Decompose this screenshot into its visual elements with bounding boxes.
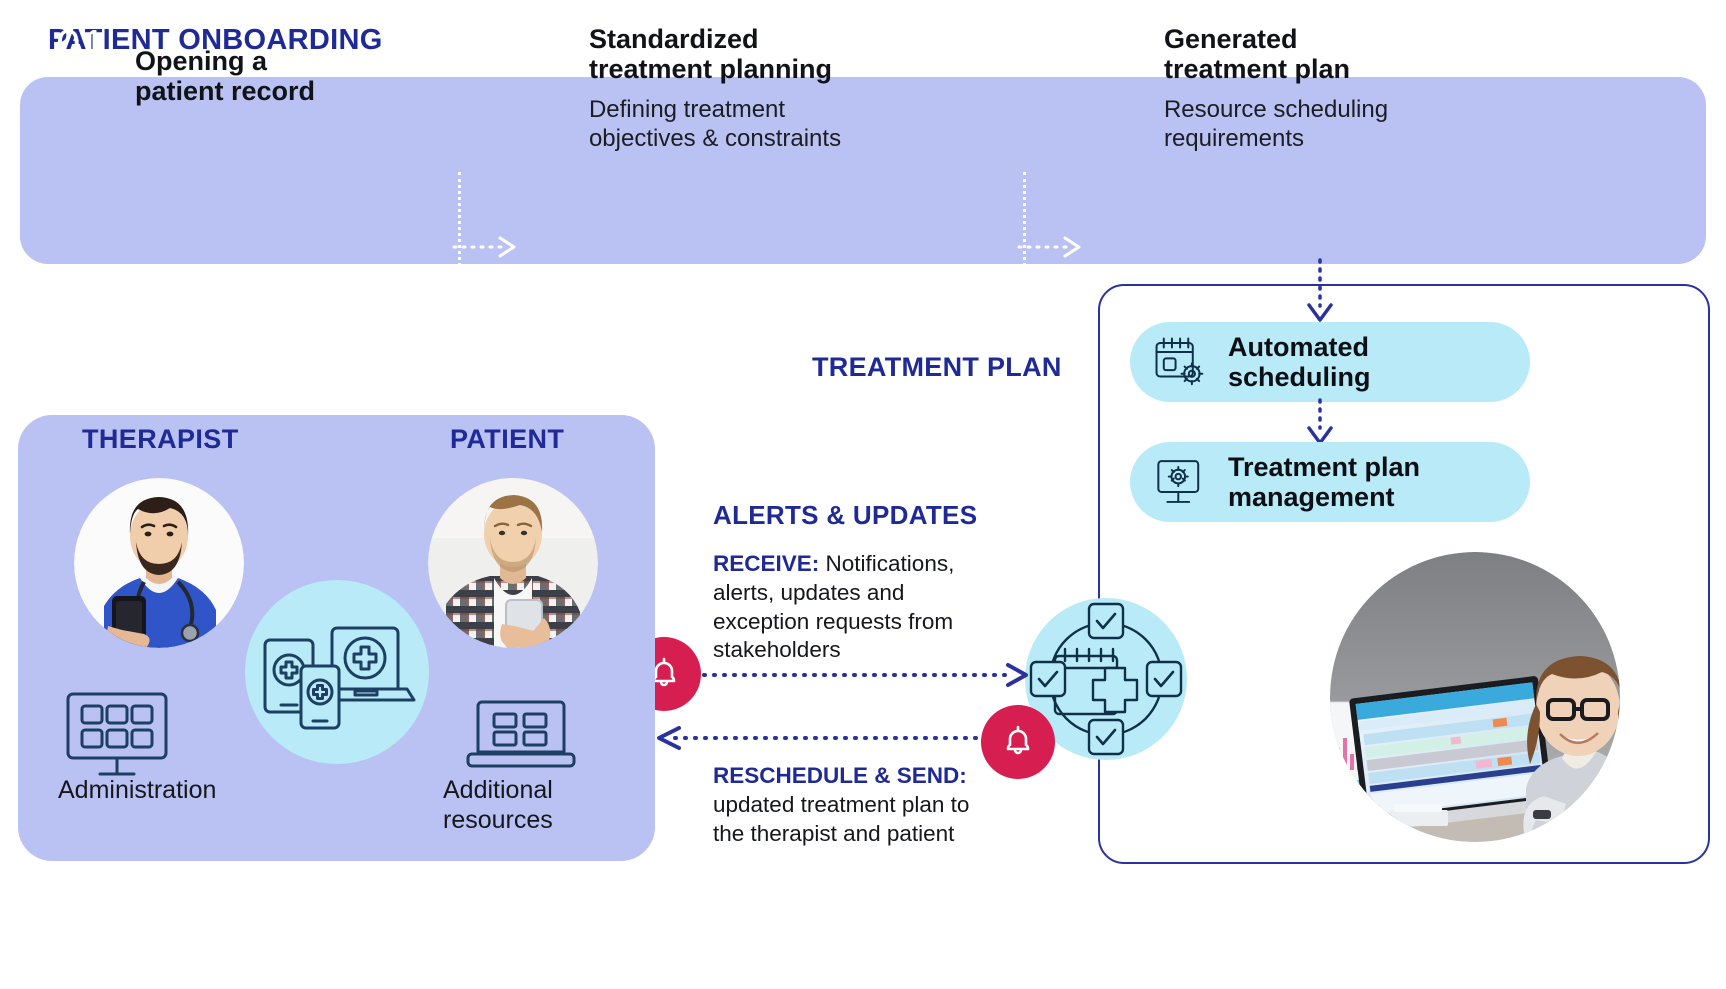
- reschedule-label: RESCHEDULE & SEND:: [713, 763, 967, 788]
- scheduler-photo: [1330, 552, 1620, 842]
- devices-health-icon: [245, 580, 429, 764]
- diagram-canvas: PATIENT ONBOARDING 01 Opening a patient …: [0, 0, 1726, 989]
- reschedule-body: updated treatment plan to the therapist …: [713, 792, 969, 846]
- bell-badge-reschedule[interactable]: [981, 705, 1055, 779]
- step-3-number: 03: [1085, 0, 1136, 68]
- calendar-gear-icon: [1152, 333, 1210, 391]
- scheduler-photo-art: [1330, 552, 1620, 842]
- additional-resources-caption: Additional resources: [443, 775, 553, 835]
- therapist-photo: [74, 478, 244, 648]
- treatment-plan-title: TREATMENT PLAN: [812, 352, 1062, 383]
- laptop-resources-icon: [466, 696, 576, 774]
- step-3-heading: Generated treatment plan: [1164, 24, 1388, 84]
- reschedule-description: RESCHEDULE & SEND: updated treatment pla…: [713, 762, 983, 848]
- patient-photo: [428, 478, 598, 648]
- step-1-heading: Opening a patient record: [135, 46, 315, 106]
- step-arrow-2: [1017, 235, 1089, 259]
- step-3-subheading: Resource scheduling requirements: [1164, 96, 1388, 153]
- step-2-subheading: Defining treatment objectives & constrai…: [589, 96, 841, 153]
- therapist-label: THERAPIST: [82, 424, 239, 455]
- monitor-gear-icon: [1152, 453, 1210, 511]
- step-2-heading: Standardized treatment planning: [589, 24, 841, 84]
- step-2-number: 02: [510, 0, 561, 68]
- administration-grid-icon: [62, 690, 172, 780]
- administration-icon-wrap: [62, 690, 172, 785]
- bell-icon: [998, 722, 1038, 762]
- devices-circle-backdrop: [245, 580, 429, 764]
- additional-resources-icon-wrap: [466, 696, 576, 779]
- patient-label: PATIENT: [450, 424, 564, 455]
- pill-treatment-plan-management[interactable]: Treatment plan management: [1130, 442, 1530, 522]
- pill-automated-scheduling[interactable]: Automated scheduling: [1130, 322, 1530, 402]
- arrow-receive-flow: [690, 662, 1040, 688]
- onboarding-step-3: 03 Generated treatment plan Resource sch…: [1085, 0, 1388, 187]
- administration-caption: Administration: [58, 775, 216, 805]
- alerts-updates-title: ALERTS & UPDATES: [713, 500, 977, 531]
- pill-automated-scheduling-label: Automated scheduling: [1228, 332, 1371, 392]
- step-1-number: 01: [56, 0, 107, 68]
- step-arrow-1: [452, 235, 524, 259]
- onboarding-step-1: 01 Opening a patient record: [56, 0, 315, 187]
- connector-scheduling-to-management: [1285, 398, 1355, 448]
- receive-label: RECEIVE:: [713, 551, 819, 576]
- patient-photo-art: [428, 478, 598, 648]
- receive-description: RECEIVE: Notifications, alerts, updates …: [713, 550, 983, 665]
- therapist-photo-art: [74, 478, 244, 648]
- pill-treatment-plan-management-label: Treatment plan management: [1228, 452, 1420, 512]
- onboarding-step-2: 02 Standardized treatment planning Defin…: [510, 0, 841, 187]
